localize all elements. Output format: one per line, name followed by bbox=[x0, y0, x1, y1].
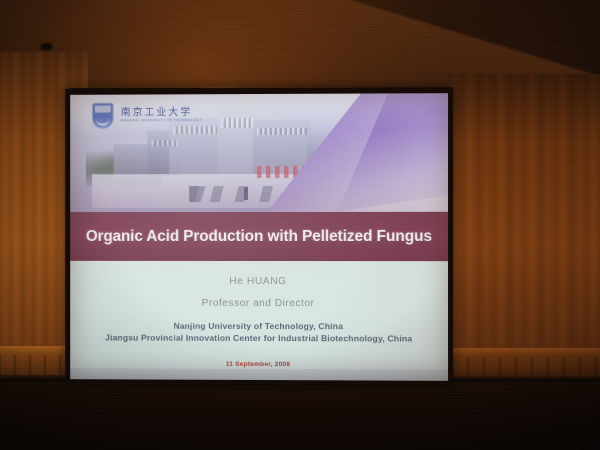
presenter-affiliation-2: Jiangsu Provincial Innovation Center for… bbox=[70, 332, 448, 346]
university-name-english: NANJING UNIVERSITY OF TECHNOLOGY bbox=[121, 118, 203, 123]
floor-area bbox=[0, 378, 600, 450]
slide-footer-band bbox=[70, 368, 448, 381]
wall-trim-right bbox=[452, 348, 600, 357]
slide-title-band: Organic Acid Production with Pelletized … bbox=[70, 212, 448, 261]
conference-room-photo: 南京工业大学 NANJING UNIVERSITY OF TECHNOLOGY … bbox=[0, 0, 600, 450]
presenter-name: He HUANG bbox=[70, 276, 448, 288]
university-logo-text: 南京工业大学 NANJING UNIVERSITY OF TECHNOLOGY bbox=[121, 108, 203, 124]
slide-body: He HUANG Professor and Director Nanjing … bbox=[70, 261, 448, 381]
slide-title: Organic Acid Production with Pelletized … bbox=[70, 227, 448, 245]
presenter-affiliation-1: Nanjing University of Technology, China bbox=[70, 320, 448, 334]
projected-slide: 南京工业大学 NANJING UNIVERSITY OF TECHNOLOGY … bbox=[70, 93, 448, 381]
wall-baseboard-left bbox=[0, 355, 66, 375]
ceiling-sprinkler-icon bbox=[41, 43, 52, 50]
projector-screen-frame: 南京工业大学 NANJING UNIVERSITY OF TECHNOLOGY … bbox=[65, 87, 453, 385]
slide-banner: 南京工业大学 NANJING UNIVERSITY OF TECHNOLOGY bbox=[70, 93, 448, 212]
university-shield-icon bbox=[92, 103, 114, 130]
wall-trim-left bbox=[0, 346, 66, 355]
university-logo: 南京工业大学 NANJING UNIVERSITY OF TECHNOLOGY bbox=[92, 102, 203, 129]
university-name-chinese: 南京工业大学 bbox=[121, 108, 203, 119]
presenter-role: Professor and Director bbox=[70, 298, 448, 310]
